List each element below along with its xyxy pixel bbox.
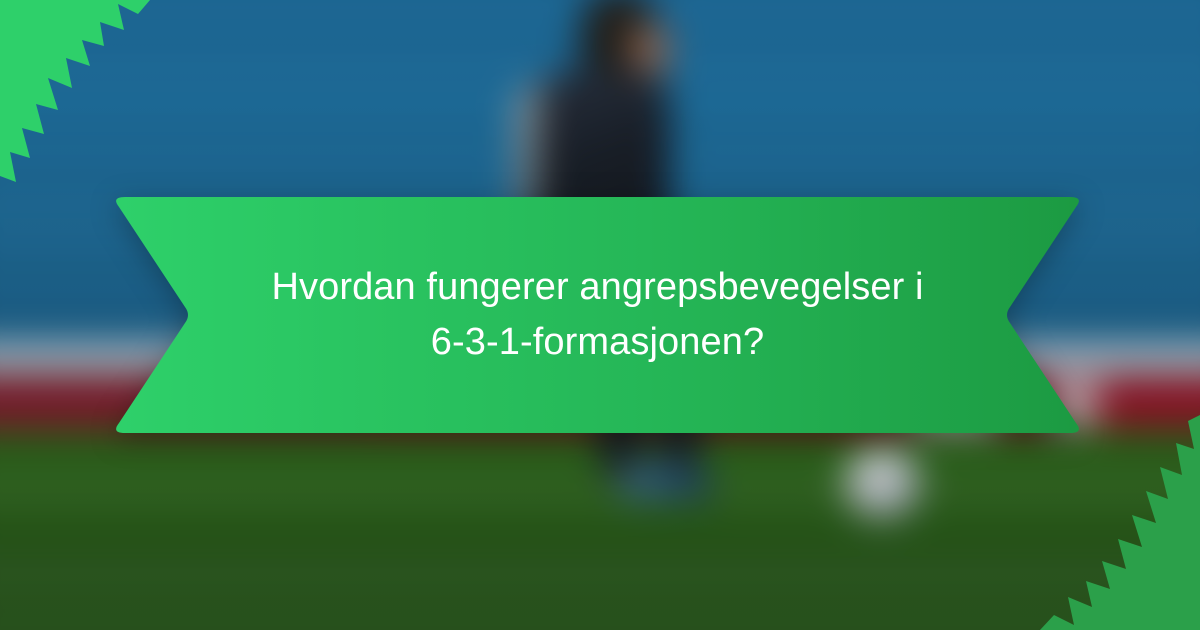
headline-text: Hvordan fungerer angrepsbevegelser i 6-3… <box>105 197 1090 433</box>
headline-line-1: Hvordan fungerer angrepsbevegelser i <box>271 260 923 315</box>
social-share-card: Hvordan fungerer angrepsbevegelser i 6-3… <box>0 0 1200 630</box>
headline-ribbon: Hvordan fungerer angrepsbevegelser i 6-3… <box>105 197 1090 433</box>
headline-line-2: 6-3-1-formasjonen? <box>431 315 764 370</box>
